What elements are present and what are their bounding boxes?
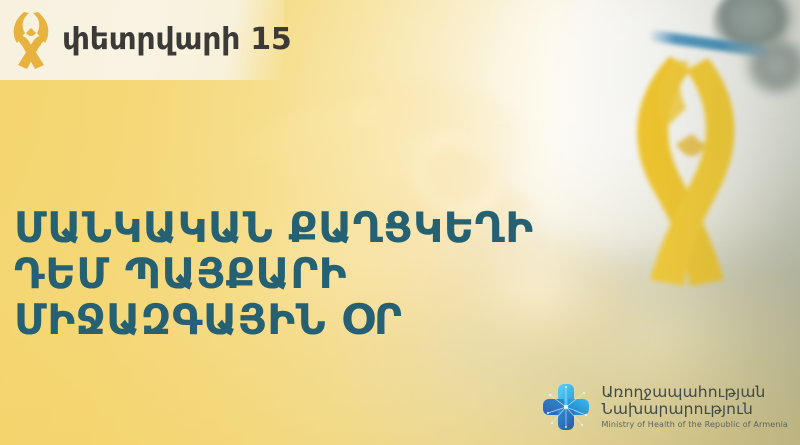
ministry-logo: Առողջապահության Նախարարություն Ministry … [540, 381, 788, 433]
poster-root: փետրվարի 15 ՄԱՆԿԱԿԱՆ ՔԱՂՑԿԵՂԻ ԴԵՄ ՊԱՅՔԱՐ… [0, 0, 800, 445]
headline: ՄԱՆԿԱԿԱՆ ՔԱՂՑԿԵՂԻ ԴԵՄ ՊԱՅՔԱՐԻ ՄԻՋԱԶԳԱՅԻՆ… [14, 205, 534, 344]
right-vignette [550, 0, 800, 445]
headline-line-1: ՄԱՆԿԱԿԱՆ ՔԱՂՑԿԵՂԻ [14, 205, 534, 251]
date-banner: փետրվարի 15 [0, 0, 284, 80]
headline-line-3: ՄԻՋԱԶԳԱՅԻՆ ՕՐ [14, 297, 534, 343]
ministry-cross-network-logo-icon [540, 381, 592, 433]
ministry-logo-text: Առողջապահության Նախարարություն Ministry … [601, 384, 788, 431]
ministry-name-hy-line1: Առողջապահության [601, 384, 788, 401]
headline-line-2: ԴԵՄ ՊԱՅՔԱՐԻ [14, 251, 534, 297]
ministry-name-en: Ministry of Health of the Republic of Ar… [601, 421, 788, 430]
ministry-name-hy-line2: Նախարարություն [601, 401, 788, 418]
awareness-ribbon-icon [10, 9, 52, 71]
date-label: փետրվարի 15 [62, 25, 291, 55]
